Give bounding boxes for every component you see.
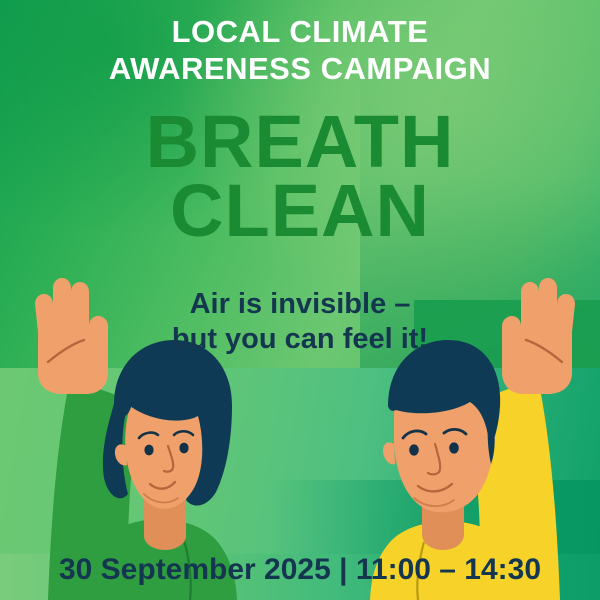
kicker-line-2: AWARENESS CAMPAIGN: [0, 51, 600, 88]
event-datetime: 30 September 2025 | 11:00 – 14:30: [0, 553, 600, 587]
subhead-line-1: Air is invisible –: [0, 287, 600, 322]
poster-subhead: Air is invisible – but you can feel it!: [0, 287, 600, 358]
headline-line-2: CLEAN: [0, 177, 600, 246]
kicker-line-1: LOCAL CLIMATE: [0, 14, 600, 51]
poster-headline: BREATH CLEAN: [0, 108, 600, 246]
subhead-line-2: but you can feel it!: [0, 322, 600, 357]
campaign-kicker: LOCAL CLIMATE AWARENESS CAMPAIGN: [0, 14, 600, 87]
headline-line-1: BREATH: [0, 108, 600, 177]
poster-text-layer: LOCAL CLIMATE AWARENESS CAMPAIGN BREATH …: [0, 0, 600, 600]
poster-canvas: LOCAL CLIMATE AWARENESS CAMPAIGN BREATH …: [0, 0, 600, 600]
